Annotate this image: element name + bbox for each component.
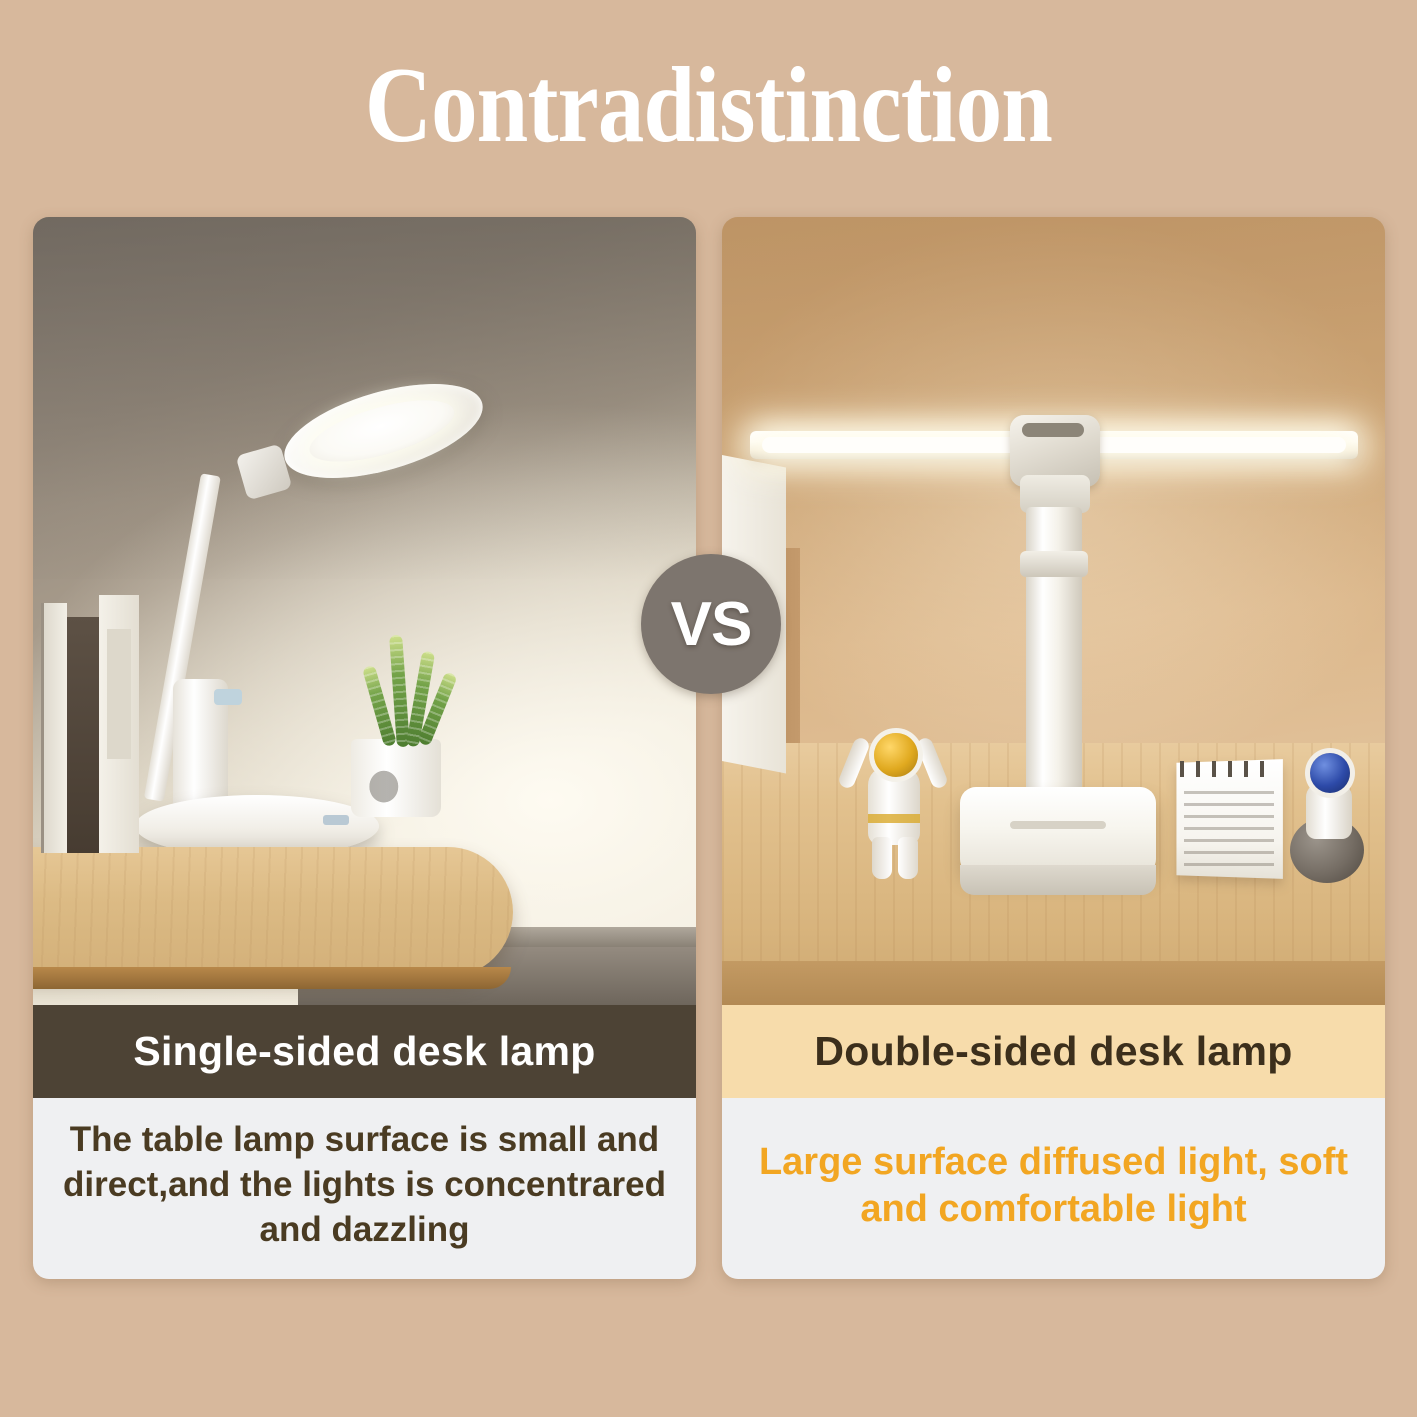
desk-front-edge (722, 961, 1385, 1005)
caption-label: Double-sided desk lamp (814, 1028, 1292, 1075)
lamp-base-side (960, 865, 1156, 895)
panel-single-sided: Single-sided desk lamp The table lamp su… (33, 217, 696, 1279)
photo-single-sided-lamp (33, 217, 696, 1005)
lamp-stem-hinge (1020, 551, 1088, 577)
plant-pot-decoration (367, 759, 409, 805)
calendar-rings (1180, 761, 1276, 777)
astronaut-gold-belt (868, 814, 920, 823)
vs-badge: VS (641, 554, 781, 694)
calendar-lines (1184, 791, 1274, 867)
description-single-sided: The table lamp surface is small and dire… (33, 1098, 696, 1279)
astronaut-gold-body (868, 767, 920, 845)
lamp-joint-notch (1022, 423, 1084, 437)
desk-surface (33, 847, 513, 977)
description-text: Large surface diffused light, soft and c… (740, 1139, 1367, 1232)
lamp-base (960, 787, 1156, 875)
astronaut-gold-helmet (874, 733, 918, 777)
desk-edge (33, 967, 511, 989)
panel-double-sided: Double-sided desk lamp Large surface dif… (722, 217, 1385, 1279)
lamp-base-marking (323, 815, 349, 825)
caption-bar-single-sided: Single-sided desk lamp (33, 1005, 696, 1098)
book-3 (99, 595, 139, 853)
caption-bar-double-sided: Double-sided desk lamp (722, 1005, 1385, 1098)
lamp-control-button (214, 689, 242, 705)
vs-label: VS (671, 589, 752, 660)
book-2 (67, 617, 101, 853)
page-title: Contradistinction (99, 52, 1318, 160)
astronaut-blue-helmet (1310, 753, 1350, 793)
caption-label: Single-sided desk lamp (133, 1028, 595, 1075)
description-double-sided: Large surface diffused light, soft and c… (722, 1098, 1385, 1279)
desk-grain (33, 847, 513, 977)
description-text: The table lamp surface is small and dire… (51, 1118, 678, 1252)
comparison-infographic: Contradistinction (0, 0, 1417, 1417)
book-1 (41, 603, 67, 853)
lamp-base-slot (1010, 821, 1106, 829)
photo-double-sided-lamp (722, 217, 1385, 1005)
astronaut-gold-leg-left (872, 837, 892, 879)
astronaut-gold-leg-right (898, 837, 918, 879)
